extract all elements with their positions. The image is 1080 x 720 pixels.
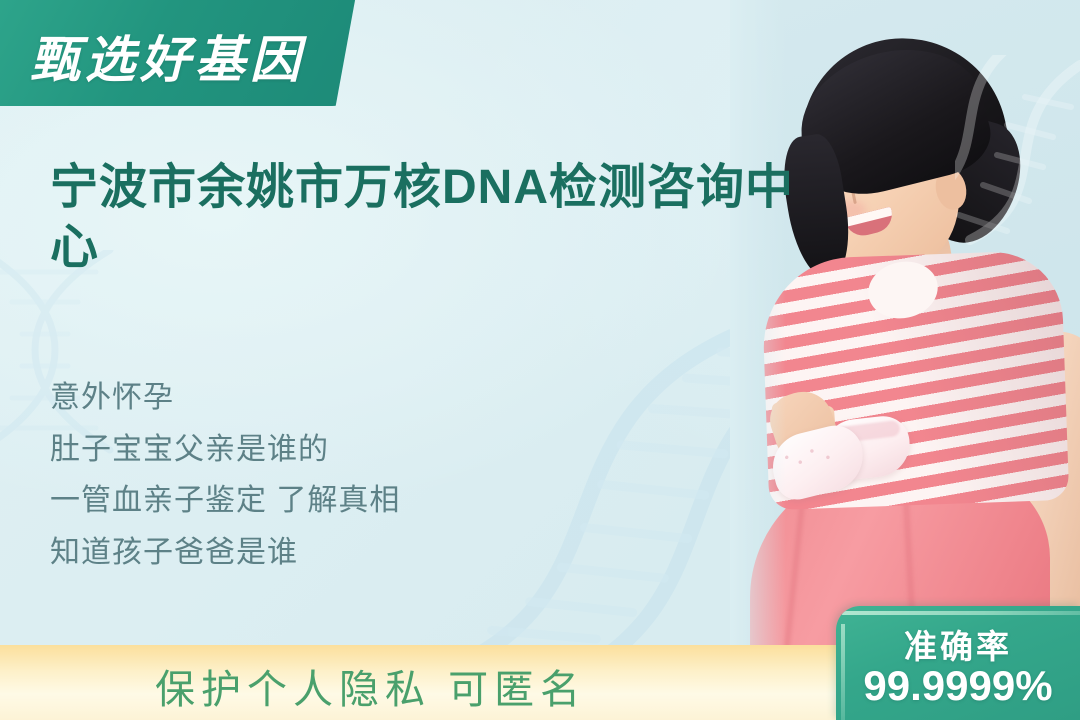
privacy-banner-text: 保护个人隐私 可匿名 (155, 657, 586, 715)
promo-poster: 甄选好基因 宁波市余姚市万核DNA检测咨询中心 意外怀孕 肚子宝宝父亲是谁的 一… (0, 0, 1080, 720)
brand-logo-text: 甄选好基因 (30, 20, 305, 92)
marketing-copy-line: 一管血亲子鉴定 了解真相 (50, 475, 570, 527)
marketing-copy-line: 知道孩子爸爸是谁 (50, 527, 570, 579)
marketing-copy-list: 意外怀孕 肚子宝宝父亲是谁的 一管血亲子鉴定 了解真相 知道孩子爸爸是谁 (50, 372, 570, 578)
marketing-copy-line: 意外怀孕 (50, 372, 570, 424)
marketing-copy-line: 肚子宝宝父亲是谁的 (50, 424, 570, 476)
accuracy-badge: 准确率 99.9999% (836, 606, 1080, 720)
badge-highlight-edge (842, 611, 1080, 615)
accuracy-badge-label: 准确率 (836, 620, 1080, 668)
page-title: 宁波市余姚市万核DNA检测咨询中心 (50, 158, 830, 278)
pregnant-woman-photo (730, 0, 1080, 660)
accuracy-badge-value: 99.9999% (836, 662, 1080, 710)
